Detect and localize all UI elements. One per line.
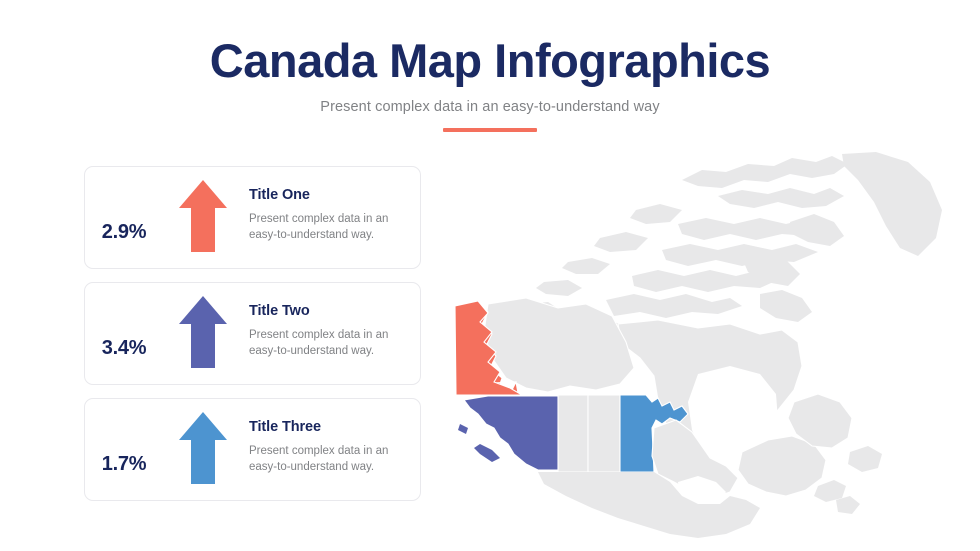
stat-text-block: Title Two Present complex data in an eas…	[243, 283, 420, 384]
stat-percent: 1.7%	[85, 399, 163, 500]
stat-title: Title One	[249, 187, 410, 203]
map-greenland	[842, 152, 942, 256]
stat-card-list: 2.9% Title One Present complex data in a…	[84, 166, 421, 501]
map-region-northwest-territories	[484, 298, 634, 392]
arrow-up-icon	[163, 283, 243, 384]
page-title: Canada Map Infographics	[0, 34, 980, 88]
stat-title: Title Two	[249, 303, 410, 319]
canada-map	[430, 152, 980, 542]
accent-divider	[443, 128, 537, 132]
stat-card[interactable]: 2.9% Title One Present complex data in a…	[84, 166, 421, 269]
map-bc-island-vancouver	[474, 444, 500, 462]
map-region-saskatchewan	[588, 395, 620, 472]
page-subtitle: Present complex data in an easy-to-under…	[0, 99, 980, 115]
stat-card[interactable]: 1.7% Title Three Present complex data in…	[84, 398, 421, 501]
stat-title: Title Three	[249, 419, 410, 435]
header: Canada Map Infographics Present complex …	[0, 0, 980, 132]
map-region-newfoundland	[848, 446, 882, 472]
stat-text-block: Title Three Present complex data in an e…	[243, 399, 420, 500]
map-region-alberta	[558, 395, 588, 472]
arrow-up-icon	[163, 167, 243, 268]
arrow-up-icon	[163, 399, 243, 500]
stat-description: Present complex data in an easy-to-under…	[249, 211, 389, 244]
stat-percent: 3.4%	[85, 283, 163, 384]
stat-description: Present complex data in an easy-to-under…	[249, 327, 389, 360]
stat-card[interactable]: 3.4% Title Two Present complex data in a…	[84, 282, 421, 385]
map-region-nova-scotia	[836, 496, 860, 514]
stat-percent: 2.9%	[85, 167, 163, 268]
map-bc-island-haida	[458, 424, 468, 434]
stat-description: Present complex data in an easy-to-under…	[249, 443, 389, 476]
stat-text-block: Title One Present complex data in an eas…	[243, 167, 420, 268]
map-region-british-columbia[interactable]	[464, 396, 558, 470]
